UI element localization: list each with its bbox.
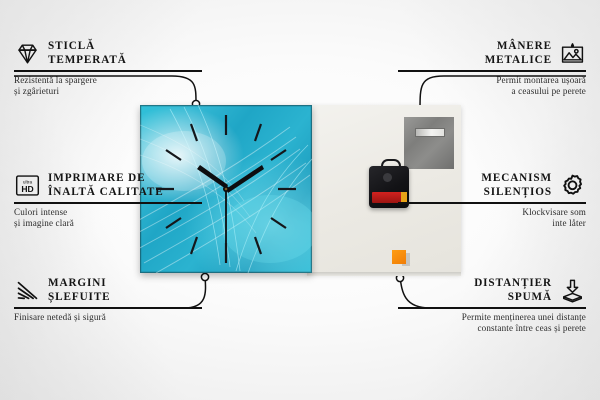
callout-rule (398, 70, 586, 72)
callout-edges: MARGINI ȘLEFUITE Finisare netedă și sigu… (14, 277, 202, 323)
callout-glass-title: STICLĂ TEMPERATĂ (48, 40, 127, 67)
svg-text:HD: HD (21, 184, 33, 194)
metal-hanger-plate (404, 117, 454, 169)
callout-print-head: ultra HD IMPRIMARE DE ÎNALTĂ CALITATE (14, 172, 202, 199)
callout-mechanism-subtitle: Klockvisare som inte låter (398, 207, 586, 230)
callout-rule (398, 307, 586, 309)
callout-handles-subtitle: Permit montarea ușoară a ceasului pe per… (398, 75, 586, 98)
movement-shaft (383, 173, 392, 182)
callout-glass: STICLĂ TEMPERATĂ Rezistentă la spargere … (14, 40, 202, 97)
callout-glass-subtitle: Rezistentă la spargere și zgârieturi (14, 75, 202, 98)
callout-spacer-head: DISTANȚIER SPUMĂ (398, 277, 586, 304)
polished-edges-icon (14, 277, 41, 304)
callout-spacer-title: DISTANȚIER SPUMĂ (474, 277, 552, 304)
callout-rule (14, 307, 202, 309)
callout-print-title: IMPRIMARE DE ÎNALTĂ CALITATE (48, 172, 164, 199)
callout-edges-subtitle: Finisare netedă și sigură (14, 312, 202, 323)
hanger-slot (415, 128, 445, 137)
callout-rule (14, 70, 202, 72)
callout-rule (14, 202, 202, 204)
callout-print: ultra HD IMPRIMARE DE ÎNALTĂ CALITATE Cu… (14, 172, 202, 229)
wall-mount-icon (559, 40, 586, 67)
callout-spacer: DISTANȚIER SPUMĂ Permite menținerea unei… (398, 277, 586, 334)
callout-edges-head: MARGINI ȘLEFUITE (14, 277, 202, 304)
ultra-hd-icon: ultra HD (14, 172, 41, 199)
callout-mechanism-title: MECANISM SILENȚIOS (481, 172, 552, 199)
callout-print-subtitle: Culori intense și imagine clară (14, 207, 202, 230)
callout-handles-head: MÂNERE METALICE (398, 40, 586, 67)
callout-mechanism: MECANISM SILENȚIOS Klockvisare som inte … (398, 172, 586, 229)
foam-spacer (392, 250, 406, 264)
callout-glass-head: STICLĂ TEMPERATĂ (14, 40, 202, 67)
callout-spacer-subtitle: Permite menținerea unei distanțe constan… (398, 312, 586, 335)
callout-edges-title: MARGINI ȘLEFUITE (48, 277, 111, 304)
product-infographic: STICLĂ TEMPERATĂ Rezistentă la spargere … (0, 0, 600, 400)
callout-mechanism-head: MECANISM SILENȚIOS (398, 172, 586, 199)
callout-handles-title: MÂNERE METALICE (485, 40, 552, 67)
callout-rule (398, 202, 586, 204)
gear-icon (559, 172, 586, 199)
diamond-icon (14, 40, 41, 67)
callout-handles: MÂNERE METALICE Permit montarea ușoară a… (398, 40, 586, 97)
second-hand (225, 189, 227, 243)
spacer-arrow-icon (559, 277, 586, 304)
